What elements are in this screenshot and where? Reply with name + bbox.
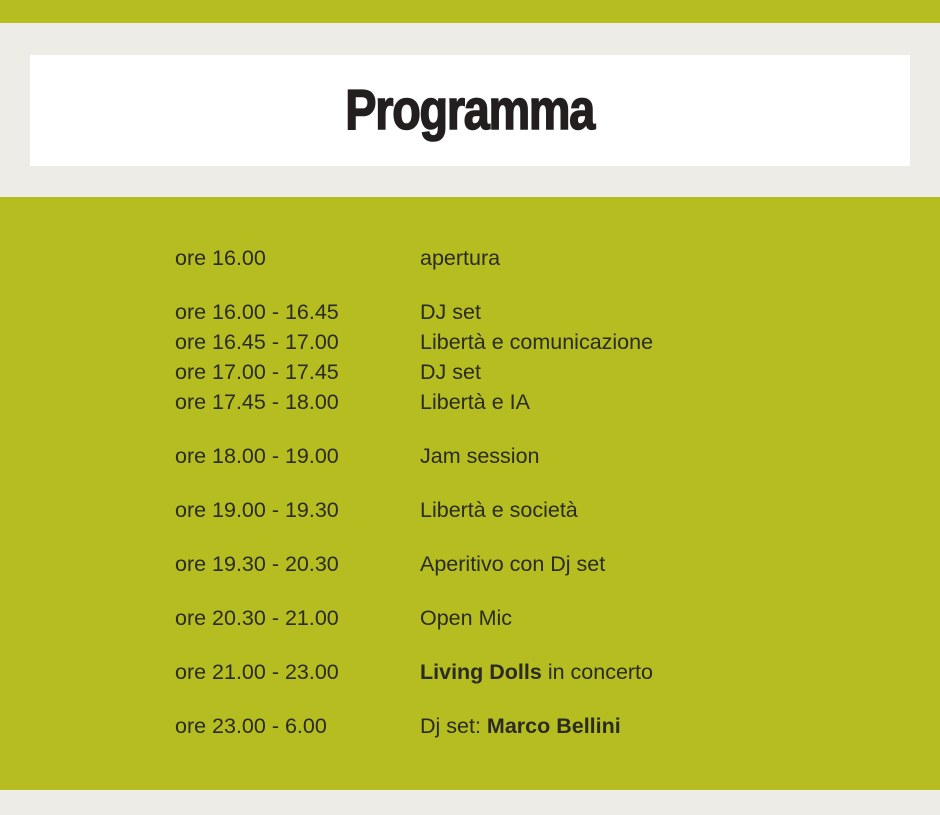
schedule-event-text: DJ set	[420, 360, 481, 384]
schedule-event: DJ set	[420, 357, 481, 387]
schedule-time: ore 17.00 - 17.45	[175, 357, 420, 387]
schedule-row: ore 17.45 - 18.00Libertà e IA	[175, 387, 915, 417]
schedule-time: ore 16.00 - 16.45	[175, 297, 420, 327]
schedule-event-text: Libertà e comunicazione	[420, 330, 653, 354]
programma-poster: Programma ore 16.00aperturaore 16.00 - 1…	[0, 0, 940, 815]
schedule-row: ore 23.00 - 6.00Dj set: Marco Bellini	[175, 711, 915, 741]
schedule-event: DJ set	[420, 297, 481, 327]
schedule-event-text: apertura	[420, 246, 500, 270]
schedule-row: ore 16.45 - 17.00Libertà e comunicazione	[175, 327, 915, 357]
schedule-row: ore 16.00apertura	[175, 243, 915, 273]
schedule-event: Dj set: Marco Bellini	[420, 711, 621, 741]
schedule-row: ore 18.00 - 19.00Jam session	[175, 441, 915, 471]
schedule-event: apertura	[420, 243, 500, 273]
schedule-event-text: Open Mic	[420, 606, 512, 630]
schedule-event-text-suffix: in concerto	[542, 660, 653, 684]
schedule-event: Libertà e società	[420, 495, 578, 525]
schedule-time: ore 20.30 - 21.00	[175, 603, 420, 633]
schedule-row: ore 16.00 - 16.45DJ set	[175, 297, 915, 327]
top-accent-band	[0, 0, 940, 23]
schedule-row: ore 20.30 - 21.00Open Mic	[175, 603, 915, 633]
schedule-time: ore 23.00 - 6.00	[175, 711, 420, 741]
schedule-time: ore 19.00 - 19.30	[175, 495, 420, 525]
schedule-row: ore 21.00 - 23.00Living Dolls in concert…	[175, 657, 915, 687]
schedule-time: ore 16.45 - 17.00	[175, 327, 420, 357]
schedule-list: ore 16.00aperturaore 16.00 - 16.45DJ set…	[175, 243, 915, 741]
schedule-time: ore 19.30 - 20.30	[175, 549, 420, 579]
schedule-event-text: Libertà e IA	[420, 390, 530, 414]
schedule-time: ore 21.00 - 23.00	[175, 657, 420, 687]
schedule-row: ore 17.00 - 17.45DJ set	[175, 357, 915, 387]
schedule-event-text: Aperitivo con Dj set	[420, 552, 605, 576]
schedule-event: Jam session	[420, 441, 540, 471]
schedule-event-text: Libertà e società	[420, 498, 578, 522]
schedule-event: Living Dolls in concerto	[420, 657, 653, 687]
schedule-time: ore 18.00 - 19.00	[175, 441, 420, 471]
page-title: Programma	[346, 82, 595, 139]
schedule-row: ore 19.00 - 19.30Libertà e società	[175, 495, 915, 525]
schedule-event-highlight: Marco Bellini	[487, 714, 621, 738]
schedule-event: Libertà e comunicazione	[420, 327, 653, 357]
schedule-time: ore 17.45 - 18.00	[175, 387, 420, 417]
schedule-event-text: Dj set:	[420, 714, 487, 738]
schedule-event-text: DJ set	[420, 300, 481, 324]
schedule-event: Open Mic	[420, 603, 512, 633]
bottom-band	[0, 790, 940, 815]
schedule-event-highlight: Living Dolls	[420, 660, 542, 684]
schedule-event: Libertà e IA	[420, 387, 530, 417]
title-card: Programma	[30, 55, 910, 166]
schedule-event: Aperitivo con Dj set	[420, 549, 605, 579]
schedule-row: ore 19.30 - 20.30Aperitivo con Dj set	[175, 549, 915, 579]
schedule-event-text: Jam session	[420, 444, 540, 468]
header-area: Programma	[0, 23, 940, 197]
schedule-block: ore 16.00aperturaore 16.00 - 16.45DJ set…	[0, 197, 940, 790]
schedule-time: ore 16.00	[175, 243, 420, 273]
